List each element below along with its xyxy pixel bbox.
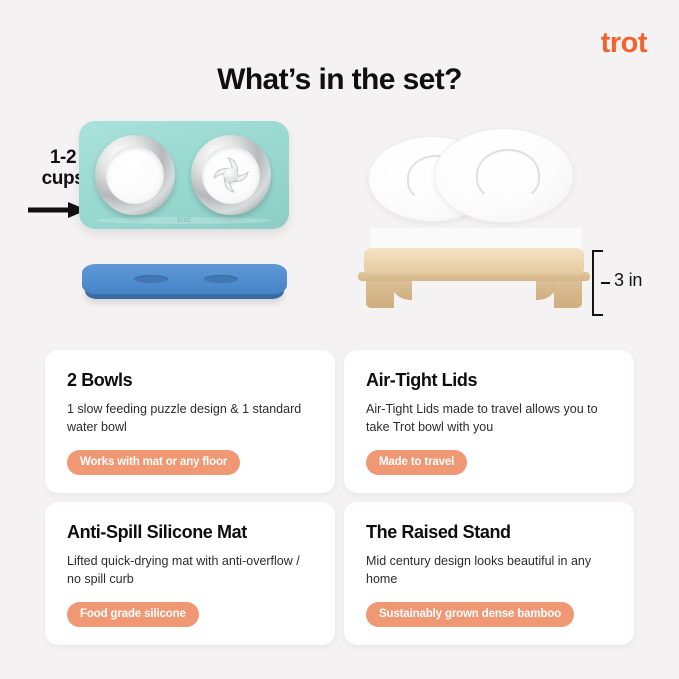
card-title: Air-Tight Lids <box>366 370 612 391</box>
stand-leg-right <box>554 280 582 308</box>
stand-tabletop <box>364 248 584 275</box>
card-description: Mid century design looks beautiful in an… <box>366 552 612 589</box>
hero-product-images: 1-2 cups trot <box>0 110 679 335</box>
bowl-tray-image: trot <box>79 121 289 229</box>
slow-feeder-puzzle-bowl <box>191 135 271 215</box>
card-title: Anti-Spill Silicone Mat <box>67 522 313 543</box>
raised-stand-image <box>358 248 590 314</box>
feature-card-lids: Air-Tight Lids Air-Tight Lids made to tr… <box>344 350 634 493</box>
page-title: What’s in the set? <box>0 63 679 97</box>
feature-card-grid: 2 Bowls 1 slow feeding puzzle design & 1… <box>45 350 634 645</box>
card-description: Air-Tight Lids made to travel allows you… <box>366 400 612 437</box>
infographic-page: trot What’s in the set? 1-2 cups trot <box>0 0 679 679</box>
lid-emboss-front <box>476 149 539 201</box>
dimension-label: 3 in <box>614 270 642 291</box>
lid-front <box>434 128 574 223</box>
feature-card-stand: The Raised Stand Mid century design look… <box>344 502 634 645</box>
silicone-mat-image <box>82 258 287 308</box>
tray-brand-emboss: trot <box>79 217 289 224</box>
puzzle-center-hub <box>224 168 238 182</box>
feature-card-mat: Anti-Spill Silicone Mat Lifted quick-dry… <box>45 502 335 645</box>
air-tight-lids-image <box>368 126 583 226</box>
water-bowl-interior <box>106 146 164 204</box>
mat-indentation-left <box>134 275 168 283</box>
card-badge: Made to travel <box>366 450 467 475</box>
dimension-tick-icon <box>601 282 610 284</box>
card-badge: Works with mat or any floor <box>67 450 240 475</box>
card-title: 2 Bowls <box>67 370 313 391</box>
card-badge: Sustainably grown dense bamboo <box>366 602 574 627</box>
standard-water-bowl <box>95 135 175 215</box>
card-description: Lifted quick-drying mat with anti-overfl… <box>67 552 313 589</box>
card-title: The Raised Stand <box>366 522 612 543</box>
height-dimension-annotation: 3 in <box>592 250 662 316</box>
card-description: 1 slow feeding puzzle design & 1 standar… <box>67 400 313 437</box>
brand-logo: trot <box>601 29 647 58</box>
feature-card-bowls: 2 Bowls 1 slow feeding puzzle design & 1… <box>45 350 335 493</box>
mat-surface <box>82 264 287 294</box>
card-badge: Food grade silicone <box>67 602 199 627</box>
stand-arch-cutout <box>392 280 556 302</box>
mat-indentation-right <box>204 275 238 283</box>
